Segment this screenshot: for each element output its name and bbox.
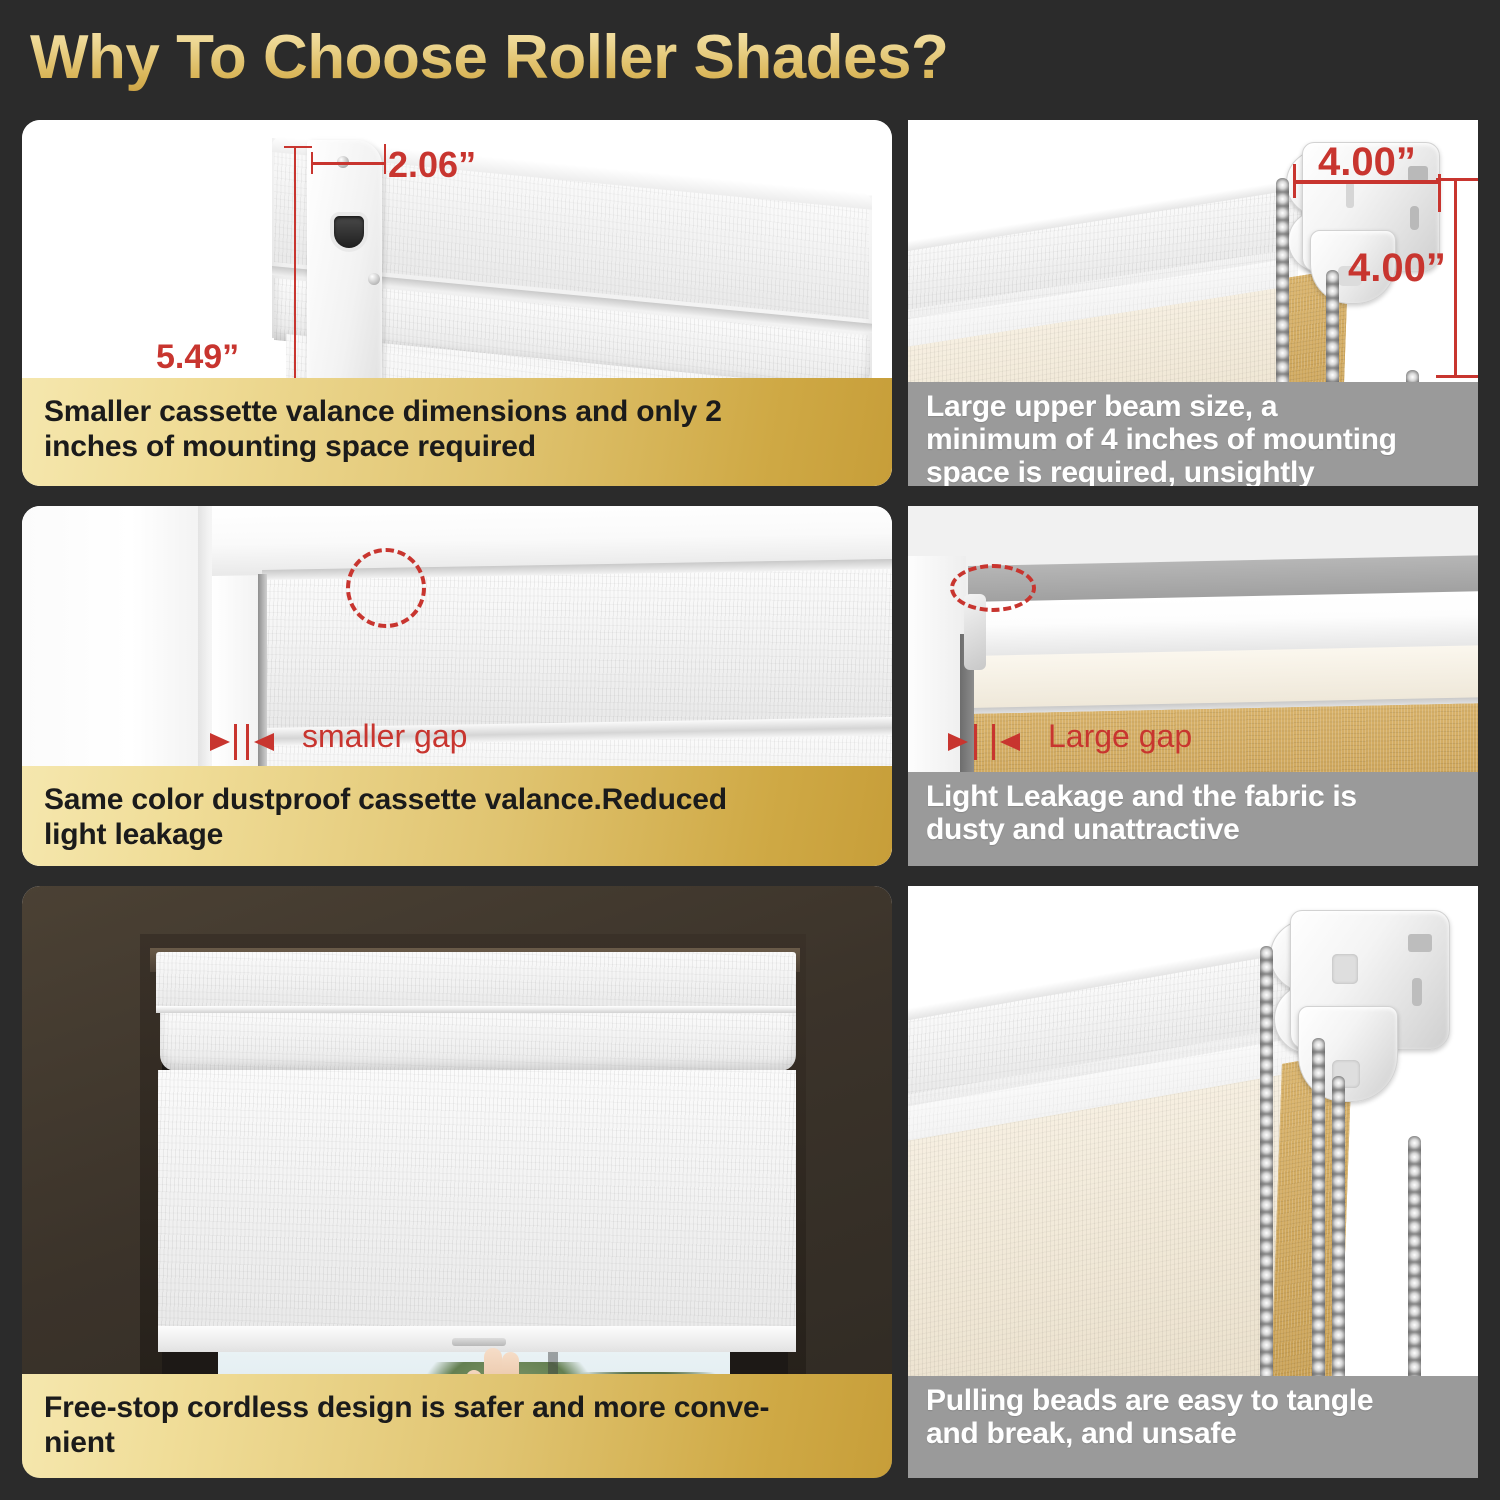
- large-gap-annotation: Large gap: [948, 722, 1248, 762]
- width-dimension-label: 2.06”: [388, 144, 476, 186]
- infographic-root: Why To Choose Roller Shades?: [0, 0, 1500, 1500]
- gap-highlight-circle-bad: [950, 564, 1036, 612]
- beam-height-label: 4.00”: [1348, 246, 1446, 291]
- panel-light-leakage: Light Leakage and the fabric is dusty an…: [908, 506, 1478, 866]
- panel-caption-smaller-cassette-valance: Smaller cassette valance dimensions and …: [22, 378, 892, 486]
- width-dimension-line: [312, 162, 386, 165]
- panel-caption-pulling-beads: Pulling beads are easy to tangle and bre…: [908, 1376, 1478, 1478]
- panel-dustproof-cassette-valance: smaller gap Same color dustproof cassett…: [22, 506, 892, 866]
- roller-shade-fabric: [158, 1070, 796, 1332]
- height-dimension-label: 5.49”: [156, 338, 239, 377]
- panel-caption-dustproof-cassette-valance: Same color dustproof cassette valance.Re…: [22, 766, 892, 866]
- panel-caption-light-leakage: Light Leakage and the fabric is dusty an…: [908, 772, 1478, 866]
- smaller-gap-text: smaller gap: [302, 718, 467, 755]
- cassette-valance: [156, 952, 796, 1012]
- large-gap-text: Large gap: [1048, 718, 1192, 755]
- smaller-gap-annotation: smaller gap: [210, 722, 530, 762]
- panel-large-upper-beam: 4.00” 4.00” Large upper beam size, a min…: [908, 120, 1478, 486]
- panel-smaller-cassette-valance: 5.49” 2.06” Smaller cassette valance dim…: [22, 120, 892, 486]
- panel-pulling-beads: Pulling beads are easy to tangle and bre…: [908, 886, 1478, 1478]
- page-title: Why To Choose Roller Shades?: [30, 16, 1230, 100]
- panel-caption-large-upper-beam: Large upper beam size, a minimum of 4 in…: [908, 382, 1478, 486]
- beam-width-label: 4.00”: [1318, 140, 1416, 185]
- panel-caption-free-stop-cordless: Free-stop cordless design is safer and m…: [22, 1374, 892, 1478]
- panel-free-stop-cordless: Free-stop cordless design is safer and m…: [22, 886, 892, 1478]
- gap-highlight-circle: [346, 548, 426, 628]
